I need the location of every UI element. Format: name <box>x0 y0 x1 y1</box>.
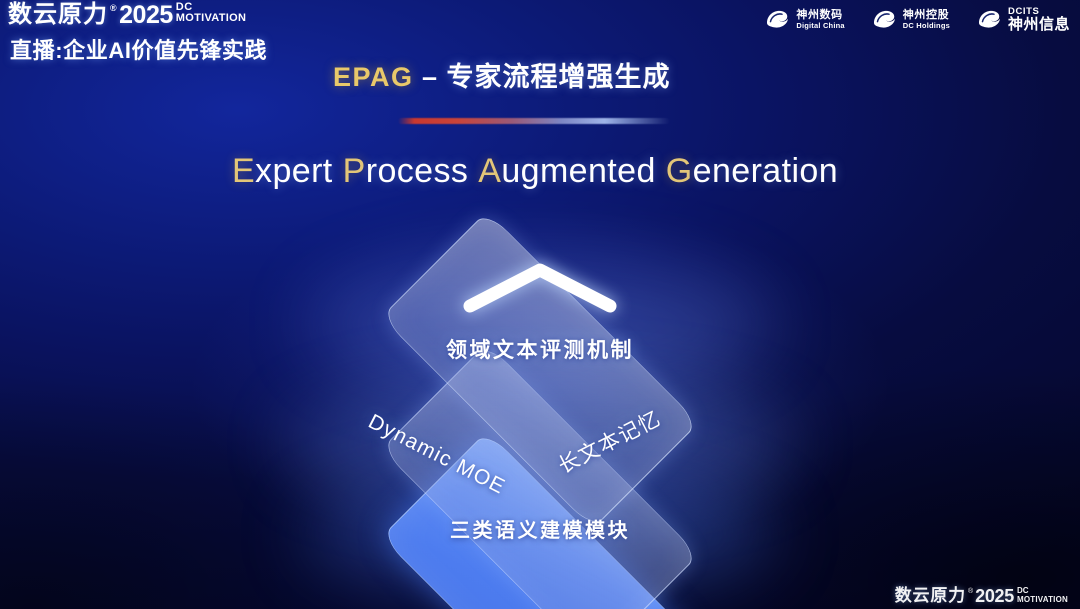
watermark-motivation-label: MOTIVATION <box>1017 595 1068 604</box>
headline-title-cn: 专家流程增强生成 <box>447 62 671 92</box>
logo-cn-name: 神州控股 <box>903 9 950 21</box>
gradient-divider <box>398 118 670 124</box>
layered-stack-diagram: 领域文本评测机制 Dynamic MOE 长文本记忆 三类语义建模模块 <box>0 224 1080 564</box>
logo-dcits: DCITS 神州信息 <box>976 6 1070 32</box>
subhead-word-expert: Expert <box>232 152 333 190</box>
logo-text-digital-china: 神州数码 Digital China <box>796 9 844 30</box>
logo-text-dcits: DCITS 神州信息 <box>1008 6 1070 32</box>
subhead-remainder: ugmented <box>501 152 655 190</box>
brand-title-row: 数云原力 ® 2025 DC MOTIVATION <box>8 2 267 28</box>
logo-text-dc-holdings: 神州控股 DC Holdings <box>903 9 950 30</box>
brand-dc-motivation: DC MOTIVATION <box>176 2 246 24</box>
layer-bottom-label: 三类语义建模模块 <box>0 514 1080 543</box>
headline-dash: – <box>414 62 447 92</box>
logo-cn-name: 神州数码 <box>796 9 844 21</box>
brand-name-cn: 数云原力 <box>8 2 108 28</box>
subhead-initial: G <box>666 152 693 190</box>
watermark-name-cn: 数云原力 <box>895 587 966 605</box>
logo-en-name: DC Holdings <box>903 21 950 30</box>
swoosh-icon <box>764 8 790 30</box>
broadcast-title: 直播:企业AI价值先锋实践 <box>10 33 267 65</box>
logo-digital-china: 神州数码 Digital China <box>764 8 844 30</box>
swoosh-icon <box>976 8 1002 30</box>
watermark-dc-motivation: DC MOTIVATION <box>1017 587 1068 604</box>
brand-lockup-top: 数云原力 ® 2025 DC MOTIVATION 直播:企业AI价值先锋实践 <box>8 2 267 65</box>
brand-motivation-label: MOTIVATION <box>176 12 246 24</box>
brand-registered-mark: ® <box>110 2 117 14</box>
subhead-initial: E <box>232 152 255 190</box>
brand-year: 2025 <box>119 2 173 28</box>
watermark-dc-label: DC <box>1017 587 1068 595</box>
logo-cn-name: 神州信息 <box>1008 17 1070 32</box>
swoosh-icon <box>871 8 897 30</box>
headline-acronym: EPAG <box>333 62 414 92</box>
logo-dc-holdings: 神州控股 DC Holdings <box>871 8 950 30</box>
slide-headline: EPAG – 专家流程增强生成 <box>333 55 671 94</box>
brand-dc-label: DC <box>176 2 246 12</box>
subhead-word-process: Process <box>343 152 469 190</box>
subhead-remainder: rocess <box>366 152 469 190</box>
watermark-registered-mark: ® <box>968 587 973 596</box>
slide-canvas: 数云原力 ® 2025 DC MOTIVATION 直播:企业AI价值先锋实践 … <box>0 0 1080 609</box>
slide-subheadline: ExpertProcessAugmentedGeneration <box>0 152 1080 191</box>
logo-en-name: Digital China <box>796 21 844 30</box>
subhead-word-generation: Generation <box>666 152 838 190</box>
partner-logo-group: 神州数码 Digital China 神州控股 DC Holdings <box>764 6 1070 32</box>
subhead-word-augmented: Augmented <box>478 152 656 190</box>
subhead-initial: P <box>343 152 366 190</box>
watermark-year: 2025 <box>975 587 1014 605</box>
brand-watermark-bottom: 数云原力 ® 2025 DC MOTIVATION <box>895 587 1068 605</box>
subhead-initial: A <box>478 152 501 190</box>
subhead-remainder: xpert <box>255 152 333 190</box>
subhead-remainder: eneration <box>693 152 838 190</box>
layer-top-label: 领域文本评测机制 <box>0 334 1080 364</box>
